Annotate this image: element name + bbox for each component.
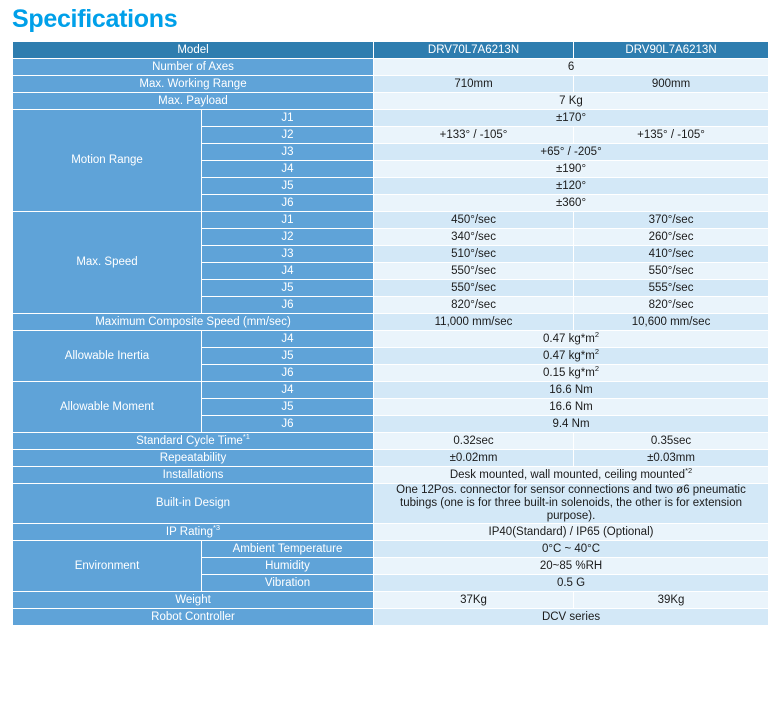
cell-group-label: Max. Speed xyxy=(13,212,201,313)
table-row: IP Rating*3IP40(Standard) / IP65 (Option… xyxy=(13,524,768,540)
cell-sub-label: J2 xyxy=(202,229,373,245)
cell-value-model-1: 37Kg xyxy=(374,592,573,608)
table-row: InstallationsDesk mounted, wall mounted,… xyxy=(13,467,768,483)
cell-value-both: 7 Kg xyxy=(374,93,768,109)
cell-sub-label: J3 xyxy=(202,144,373,160)
superscript: 2 xyxy=(595,331,599,339)
cell-group-label: Allowable Inertia xyxy=(13,331,201,381)
cell-sub-label: J1 xyxy=(202,212,373,228)
header-model-1: DRV70L7A6213N xyxy=(374,42,573,58)
cell-value-both: ±360° xyxy=(374,195,768,211)
cell-value-model-2: 260°/sec xyxy=(574,229,768,245)
cell-value-model-2: 900mm xyxy=(574,76,768,92)
cell-sub-label: J2 xyxy=(202,127,373,143)
cell-value-both: ±190° xyxy=(374,161,768,177)
cell-value-both: IP40(Standard) / IP65 (Optional) xyxy=(374,524,768,540)
cell-value-both: 0.47 kg*m2 xyxy=(374,331,768,347)
cell-row-label: Repeatability xyxy=(13,450,373,466)
cell-row-label: Number of Axes xyxy=(13,59,373,75)
table-row: Motion RangeJ1±170° xyxy=(13,110,768,126)
cell-value-model-2: 0.35sec xyxy=(574,433,768,449)
cell-value-model-2: 39Kg xyxy=(574,592,768,608)
cell-group-label: Environment xyxy=(13,541,201,591)
cell-value-model-2: 555°/sec xyxy=(574,280,768,296)
table-row: Allowable MomentJ416.6 Nm xyxy=(13,382,768,398)
cell-sub-label: J4 xyxy=(202,263,373,279)
cell-value-both: 0.5 G xyxy=(374,575,768,591)
table-row: Maximum Composite Speed (mm/sec)11,000 m… xyxy=(13,314,768,330)
cell-value-both: 0.15 kg*m2 xyxy=(374,365,768,381)
cell-value-model-1: +133° / -105° xyxy=(374,127,573,143)
cell-value-model-2: ±0.03mm xyxy=(574,450,768,466)
table-row: Built-in DesignOne 12Pos. connector for … xyxy=(13,484,768,523)
cell-sub-label: J4 xyxy=(202,161,373,177)
cell-value-model-1: 710mm xyxy=(374,76,573,92)
cell-sub-label: J5 xyxy=(202,178,373,194)
cell-value-model-1: 340°/sec xyxy=(374,229,573,245)
cell-value-model-1: 820°/sec xyxy=(374,297,573,313)
superscript: 2 xyxy=(595,348,599,356)
cell-sub-label: J1 xyxy=(202,110,373,126)
table-row: Weight37Kg39Kg xyxy=(13,592,768,608)
cell-sub-label: J4 xyxy=(202,331,373,347)
cell-value-model-2: 10,600 mm/sec xyxy=(574,314,768,330)
cell-value-model-2: +135° / -105° xyxy=(574,127,768,143)
table-row: Max. SpeedJ1450°/sec370°/sec xyxy=(13,212,768,228)
table-row: Number of Axes6 xyxy=(13,59,768,75)
cell-value-model-1: 450°/sec xyxy=(374,212,573,228)
table-row: Max. Payload7 Kg xyxy=(13,93,768,109)
cell-value-both: DCV series xyxy=(374,609,768,625)
cell-row-label: Max. Working Range xyxy=(13,76,373,92)
cell-row-label: Max. Payload xyxy=(13,93,373,109)
cell-value-both: One 12Pos. connector for sensor connecti… xyxy=(374,484,768,523)
cell-sub-label: J6 xyxy=(202,195,373,211)
header-model-label: Model xyxy=(13,42,373,58)
cell-row-label: Standard Cycle Time*1 xyxy=(13,433,373,449)
cell-sub-label: J5 xyxy=(202,399,373,415)
cell-value-model-1: 510°/sec xyxy=(374,246,573,262)
cell-sub-label: J6 xyxy=(202,297,373,313)
table-row: Repeatability±0.02mm±0.03mm xyxy=(13,450,768,466)
cell-value-both: +65° / -205° xyxy=(374,144,768,160)
cell-value-model-2: 410°/sec xyxy=(574,246,768,262)
cell-row-label: Robot Controller xyxy=(13,609,373,625)
table-row: EnvironmentAmbient Temperature0°C ~ 40°C xyxy=(13,541,768,557)
cell-value-both: ±170° xyxy=(374,110,768,126)
cell-sub-label: J6 xyxy=(202,416,373,432)
table-row: Allowable InertiaJ40.47 kg*m2 xyxy=(13,331,768,347)
cell-sub-label: J5 xyxy=(202,348,373,364)
cell-sub-label: J3 xyxy=(202,246,373,262)
cell-row-label: Installations xyxy=(13,467,373,483)
table-header-row: Model DRV70L7A6213N DRV90L7A6213N xyxy=(13,42,768,58)
cell-value-model-2: 370°/sec xyxy=(574,212,768,228)
table-row: Standard Cycle Time*10.32sec0.35sec xyxy=(13,433,768,449)
table-row: Robot ControllerDCV series xyxy=(13,609,768,625)
cell-value-model-2: 820°/sec xyxy=(574,297,768,313)
cell-value-model-1: 11,000 mm/sec xyxy=(374,314,573,330)
cell-row-label: Maximum Composite Speed (mm/sec) xyxy=(13,314,373,330)
cell-value-model-1: 550°/sec xyxy=(374,280,573,296)
cell-sub-label: Humidity xyxy=(202,558,373,574)
cell-row-label: Built-in Design xyxy=(13,484,373,523)
cell-value-model-2: 550°/sec xyxy=(574,263,768,279)
cell-sub-label: Vibration xyxy=(202,575,373,591)
cell-row-label: IP Rating*3 xyxy=(13,524,373,540)
cell-value-both: 6 xyxy=(374,59,768,75)
cell-value-both: 20~85 %RH xyxy=(374,558,768,574)
specifications-table: Model DRV70L7A6213N DRV90L7A6213N Number… xyxy=(12,41,769,626)
cell-value-model-1: 0.32sec xyxy=(374,433,573,449)
cell-group-label: Motion Range xyxy=(13,110,201,211)
footnote-marker: *2 xyxy=(685,467,692,475)
cell-value-both: 16.6 Nm xyxy=(374,382,768,398)
cell-sub-label: J4 xyxy=(202,382,373,398)
cell-sub-label: Ambient Temperature xyxy=(202,541,373,557)
table-header: Model DRV70L7A6213N DRV90L7A6213N xyxy=(13,42,768,58)
table-row: Max. Working Range710mm900mm xyxy=(13,76,768,92)
table-body: Number of Axes6Max. Working Range710mm90… xyxy=(13,59,768,625)
footnote-marker: *3 xyxy=(213,524,220,532)
cell-value-both: 0.47 kg*m2 xyxy=(374,348,768,364)
header-model-2: DRV90L7A6213N xyxy=(574,42,768,58)
cell-value-model-1: ±0.02mm xyxy=(374,450,573,466)
cell-value-both: ±120° xyxy=(374,178,768,194)
footnote-marker: *1 xyxy=(243,433,250,441)
cell-sub-label: J5 xyxy=(202,280,373,296)
cell-value-both: 9.4 Nm xyxy=(374,416,768,432)
cell-sub-label: J6 xyxy=(202,365,373,381)
cell-group-label: Allowable Moment xyxy=(13,382,201,432)
cell-value-both: 16.6 Nm xyxy=(374,399,768,415)
cell-value-model-1: 550°/sec xyxy=(374,263,573,279)
cell-value-both: Desk mounted, wall mounted, ceiling moun… xyxy=(374,467,768,483)
specifications-table-container: Model DRV70L7A6213N DRV90L7A6213N Number… xyxy=(12,41,767,626)
cell-value-both: 0°C ~ 40°C xyxy=(374,541,768,557)
cell-row-label: Weight xyxy=(13,592,373,608)
page-title: Specifications xyxy=(12,4,779,34)
superscript: 2 xyxy=(595,365,599,373)
